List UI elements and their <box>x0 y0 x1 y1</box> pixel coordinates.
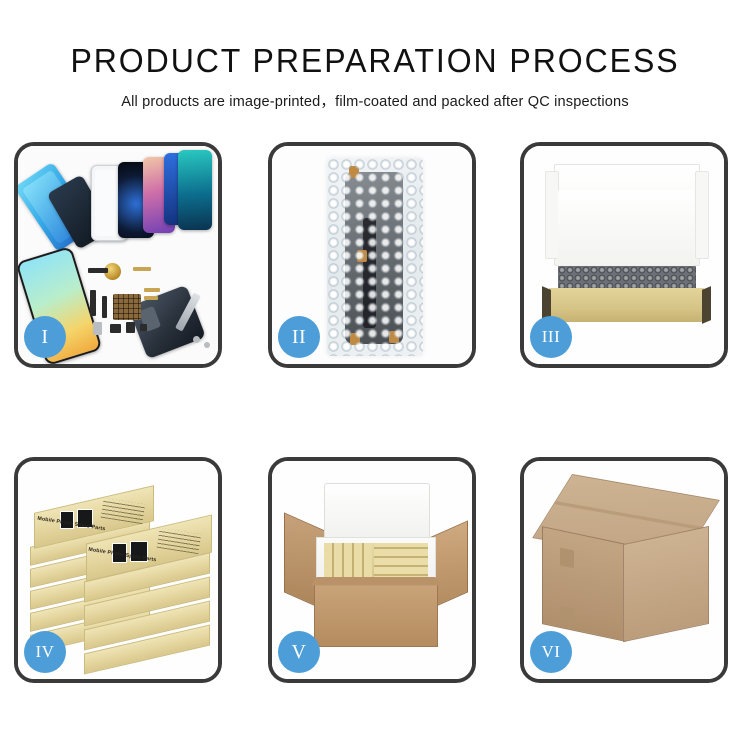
step-badge-3: III <box>530 316 572 358</box>
carton-left-face <box>542 526 626 642</box>
step-2-image: II <box>272 146 472 364</box>
kraft-box-front <box>549 288 704 322</box>
white-foam-pad <box>558 190 694 268</box>
step-badge-2: II <box>278 316 320 358</box>
bubble-wrap-package <box>327 158 423 356</box>
carton-tape-lower <box>560 606 574 625</box>
process-step-5[interactable]: V <box>268 457 476 683</box>
step-6-image: VI <box>524 461 724 679</box>
process-step-4[interactable]: Mobile Phone Spare Parts Mobile Phone Sp… <box>14 457 222 683</box>
chip-grid-icon <box>113 294 141 320</box>
process-step-1[interactable]: I <box>14 142 222 368</box>
carton-tape-upper <box>560 548 574 569</box>
connector-tab <box>349 166 359 178</box>
connector-tab <box>357 250 367 262</box>
process-step-6[interactable]: VI <box>520 457 728 683</box>
step-3-image: III <box>524 146 724 364</box>
process-step-grid: I II <box>14 142 736 678</box>
page-header: PRODUCT PREPARATION PROCESS All products… <box>0 0 750 111</box>
carton-right-face <box>623 526 709 642</box>
process-step-2[interactable]: II <box>268 142 476 368</box>
step-badge-6: VI <box>530 631 572 673</box>
step-badge-5: V <box>278 631 320 673</box>
page-title: PRODUCT PREPARATION PROCESS <box>11 0 739 79</box>
connector-tab <box>389 331 399 343</box>
page-subtitle: All products are image-printed，film-coat… <box>0 79 750 111</box>
step-4-image: Mobile Phone Spare Parts Mobile Phone Sp… <box>18 461 218 679</box>
bubble-wrapped-contents <box>558 266 696 290</box>
step-1-image: I <box>18 146 218 364</box>
process-step-3[interactable]: III <box>520 142 728 368</box>
step-badge-4: IV <box>24 631 66 673</box>
carton-front-panel <box>314 583 438 647</box>
step-5-image: V <box>272 461 472 679</box>
step-badge-1: I <box>24 316 66 358</box>
flex-cable <box>363 218 376 328</box>
foam-lid <box>324 483 430 543</box>
teal-gradient-phone <box>178 150 212 230</box>
connector-tab <box>350 333 360 345</box>
